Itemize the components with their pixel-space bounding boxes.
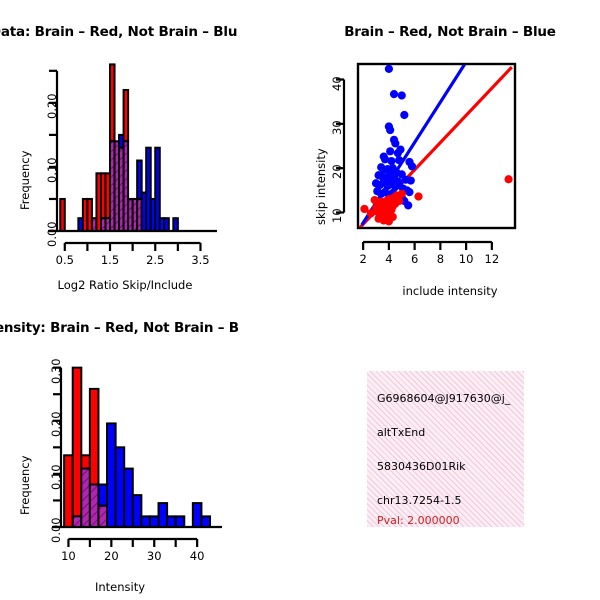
ratio-histogram-bars [60,64,178,231]
y-tick-label: 20 [330,165,344,180]
scatter-title: Brain – Red, Not Brain – Blue [300,24,600,40]
intensity-histogram-bars [64,368,210,527]
intensity-hist-title: ne Itensity: Brain – Red, Not Brain – B [0,320,239,336]
y-tick-label: 40 [330,76,344,91]
intensity-histogram-y-axis-label: Frequency [18,456,32,515]
ratio-hist-title-clip: RatioData: Brain – Red, Not Brain – Blu [0,24,300,46]
intensity-histogram-x-axis [52,527,222,547]
y-tick-label: 0.00 [45,221,59,247]
annotation-line-4: chr13.7254-1.5 [377,494,462,507]
x-tick-label: 2.5 [141,253,169,267]
y-tick-label: 30 [330,120,344,135]
intensity-histogram-y-axis [53,368,61,527]
annotation-line-3: 5830436D01Rik [377,460,466,473]
x-tick-label: 2 [351,252,375,266]
annotation-panel: G6968604@J917630@j_ altTxEnd 5830436D01R… [367,371,524,527]
intensity-histogram-x-axis-label: Intensity [0,580,240,594]
annotation-clip: G6968604@J917630@j_ altTxEnd 5830436D01R… [367,371,524,527]
x-tick-label: 4 [377,252,401,266]
intensity-histogram-panel: 10203040 0.000.100.200.30 Frequency Inte… [0,345,300,600]
ratio-histogram-x-axis [48,231,217,251]
x-tick-label: 40 [183,549,211,563]
intensity-hist-title-clip: ne Itensity: Brain – Red, Not Brain – B [0,320,300,342]
ratio-hist-title: RatioData: Brain – Red, Not Brain – Blu [0,24,237,40]
x-tick-label: 10 [454,252,478,266]
scatter-x-axis-label: include intensity [330,284,570,298]
x-tick-label: 1.5 [96,253,124,267]
scatter-panel: 24681012 10203040 skip intensity include… [300,50,600,300]
y-tick-label: 10 [330,209,344,224]
x-tick-label: 30 [140,549,168,563]
x-tick-label: 6 [403,252,427,266]
x-tick-label: 12 [480,252,504,266]
scatter-title-text: Brain – Red, Not Brain – Blue [344,24,556,40]
annotation-line-1: G6968604@J917630@j_ [377,392,510,405]
ratio-histogram-y-axis-label: Frequency [18,151,32,210]
scatter-y-axis-label: skip intensity [314,148,328,225]
y-tick-label: 0.10 [45,157,59,183]
x-tick-label: 10 [54,549,82,563]
y-tick-label: 0.00 [49,517,63,543]
annotation-pval: Pval: 2.000000 [377,514,460,527]
x-tick-label: 0.5 [51,253,79,267]
ratio-histogram-panel: 0.51.52.53.5 0.000.100.20 Frequency Log2… [0,50,300,300]
x-tick-label: 3.5 [186,253,214,267]
x-tick-label: 8 [428,252,452,266]
ratio-histogram-x-axis-label: Log2 Ratio Skip/Include [0,278,250,292]
y-tick-label: 0.10 [49,464,63,490]
x-tick-label: 20 [97,549,125,563]
annotation-line-2: altTxEnd [377,426,425,439]
y-tick-label: 0.20 [45,93,59,119]
y-tick-label: 0.20 [49,411,63,437]
y-tick-label: 0.30 [49,358,63,384]
